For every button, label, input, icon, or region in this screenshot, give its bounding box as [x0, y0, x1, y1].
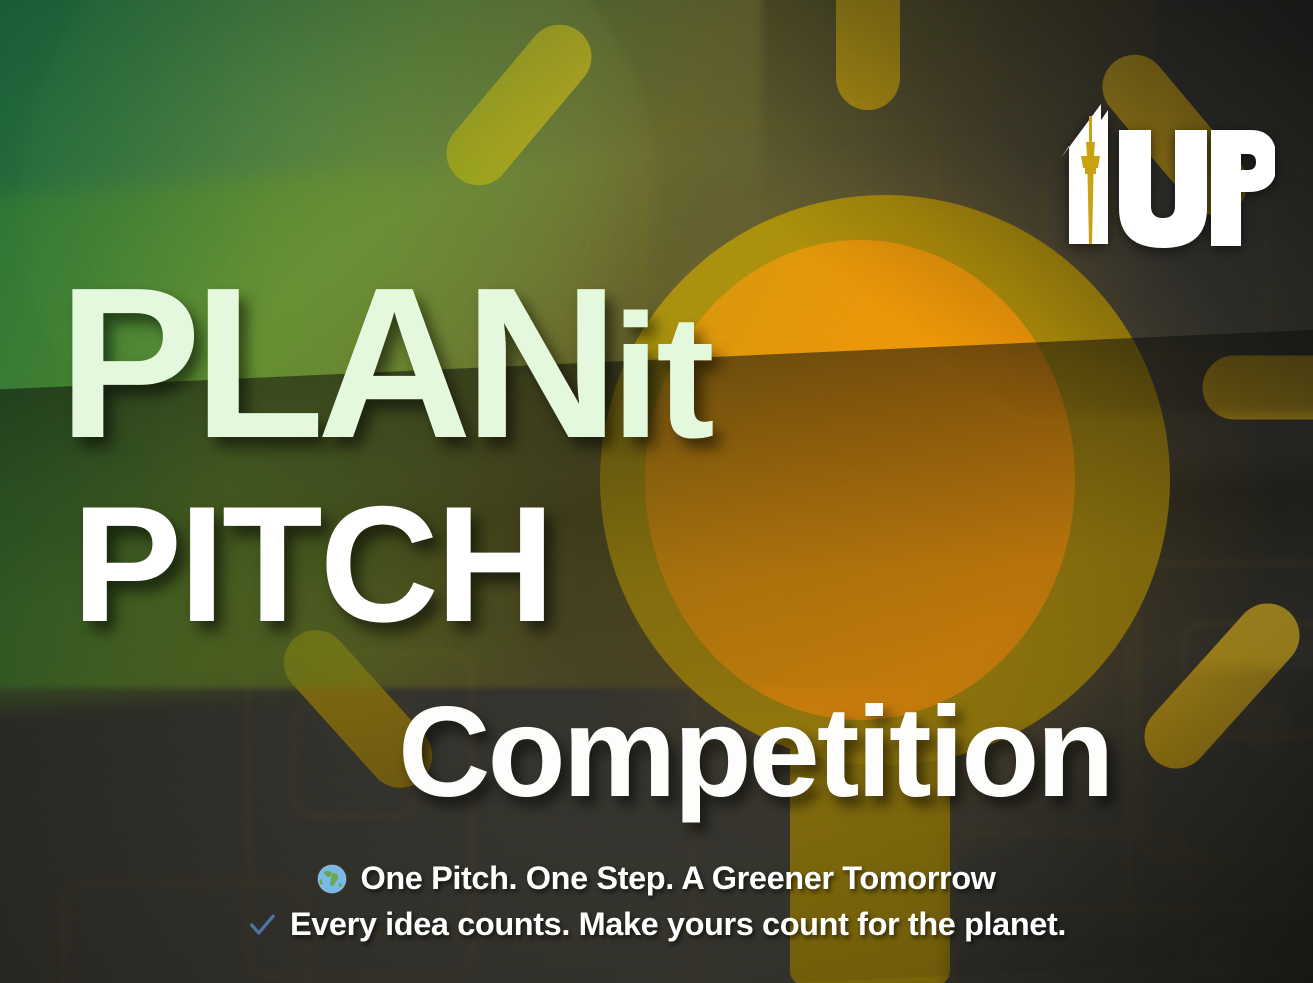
title-it: it — [611, 279, 711, 475]
tagline-row-1: One Pitch. One Step. A Greener Tomorrow — [0, 860, 1313, 897]
check-mark-icon — [247, 910, 277, 940]
poster-canvas: PLANit PITCH Competition One Pitch. One … — [0, 0, 1313, 983]
tagline-row-2: Every idea counts. Make yours count for … — [0, 906, 1313, 943]
cn-tower-icon — [1045, 96, 1275, 251]
title-line-planit: PLANit — [58, 268, 711, 457]
title-pitch: PITCH — [72, 492, 552, 637]
tagline-block: One Pitch. One Step. A Greener Tomorrow … — [0, 860, 1313, 943]
title-plan: PLAN — [58, 242, 611, 483]
globe-europe-africa-icon — [317, 864, 347, 894]
tagline-text-1: One Pitch. One Step. A Greener Tomorrow — [360, 860, 995, 897]
brand-logo[interactable] — [1045, 96, 1275, 251]
tagline-text-2: Every idea counts. Make yours count for … — [290, 906, 1066, 943]
title-competition: Competition — [398, 694, 1112, 812]
